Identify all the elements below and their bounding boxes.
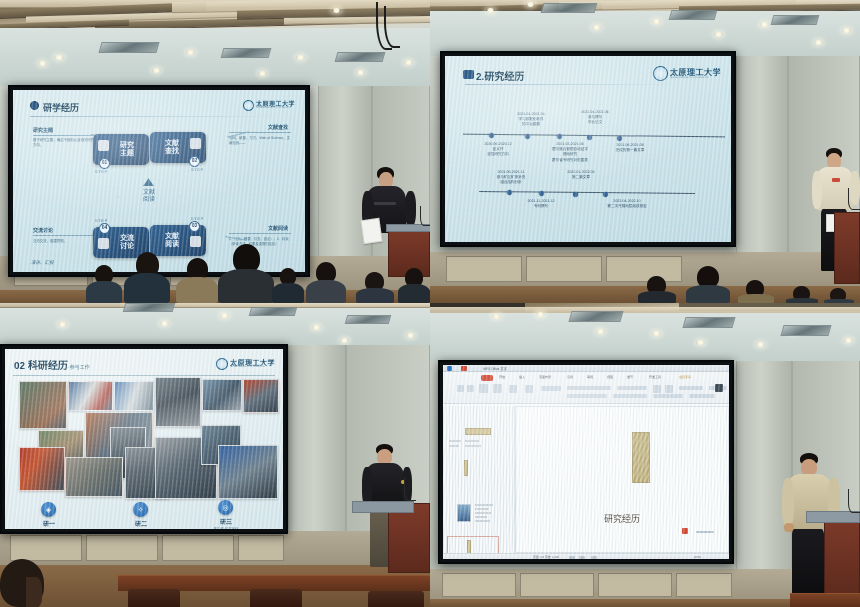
ceiling-downlight <box>404 60 413 65</box>
office-document-window: WPS Office 文字 开始 插入 页面布局 引用 审阅 视图 章节 开发工… <box>443 365 729 559</box>
slide-footer: 演讲、汇报 <box>31 260 54 266</box>
page-title-main: 02 科研经历 <box>14 361 68 372</box>
slide-research-work-collage: 02 科研经历·参与工作 太原理工大学 TAIYUAN UNIVERSITY O… <box>5 349 283 529</box>
node-label-line2: 讨论 <box>120 243 134 251</box>
audience-member <box>824 288 854 303</box>
circle-badge-icon <box>30 101 39 110</box>
target-icon: ◎ <box>222 504 228 512</box>
toolbar-icon[interactable] <box>653 394 683 398</box>
ribbon-tab[interactable]: 插入 <box>519 375 525 379</box>
page-title: 2.研究经历 <box>476 68 524 83</box>
status-icon[interactable] <box>569 556 575 559</box>
slide-research-experience-timeline: 2.研究经历 太原理工大学 TAIYUAN UNIVERSITY OF TECH… <box>445 56 731 242</box>
ceiling-downlight <box>652 19 661 24</box>
status-bar: 页面: 1/3 字数: 1,246 100% <box>443 553 729 559</box>
ceiling-downlight <box>356 70 365 75</box>
arm <box>405 191 416 227</box>
collage-photo <box>243 379 279 413</box>
node-label-line1: 文献 <box>165 140 179 148</box>
presentation-screen: WPS Office 文字 开始 插入 页面布局 引用 审阅 视图 章节 开发工… <box>438 360 734 564</box>
ceiling-vent <box>98 42 159 53</box>
badge-sub-year-1: 专业课·课程设计实验·成果 <box>11 528 87 529</box>
note-heading-literature-reading: 文献阅读 <box>268 225 288 232</box>
step-badge: 04 <box>99 223 110 234</box>
presentation-screen: 2.研究经历 太原理工大学 TAIYUAN UNIVERSITY OF TECH… <box>440 51 736 247</box>
ceiling-downlight <box>58 322 67 327</box>
podium <box>824 515 860 599</box>
dado-panel <box>676 573 732 597</box>
ribbon-tab[interactable]: 审阅 <box>587 375 593 379</box>
ceiling-downlight <box>296 55 305 60</box>
ceiling-vent <box>780 325 831 336</box>
shoulders <box>86 281 122 303</box>
audience-member <box>218 244 274 303</box>
toolbar-icon[interactable] <box>653 385 661 393</box>
toolbar-icon[interactable] <box>665 385 673 393</box>
ceiling-downlight <box>54 55 64 60</box>
note-body-discussion: 交流交流、碰撞思想。 <box>33 239 95 244</box>
ceiling-vent <box>249 307 298 316</box>
ribbon-tab[interactable]: 章节 <box>627 375 633 379</box>
flow-node-research-topic[interactable]: 研究 主题 01 <box>93 134 149 165</box>
document-figure <box>632 432 650 483</box>
book-icon <box>190 236 201 247</box>
ceiling-downlight <box>492 314 501 319</box>
ceiling-downlight <box>844 338 853 343</box>
nav-line <box>475 520 490 522</box>
title-bar: WPS Office 文字 <box>443 365 729 372</box>
timeline-text: 第二次开展地层组成测定 <box>591 204 663 209</box>
podium <box>834 212 860 284</box>
university-seal-icon <box>216 358 228 370</box>
shoulders <box>176 277 218 303</box>
page-title-sub: ·参与工作 <box>68 365 90 371</box>
timeline-dot <box>507 190 512 195</box>
step-label: STEP <box>95 169 108 174</box>
ceiling <box>0 303 430 349</box>
step-badge: 03 <box>189 221 200 232</box>
timeline-entry: 2022.01-2022.04 第二篇文章 <box>555 170 607 180</box>
audience-member <box>738 280 774 303</box>
ceiling-downlight <box>220 313 229 318</box>
timeline-text: 霍尔集合管理自动钻字 基础研究 霍尔省专研究对范围表 <box>537 147 603 163</box>
university-seal-icon <box>243 100 254 111</box>
dado-panel <box>446 256 522 282</box>
nav-thumbnail[interactable] <box>464 460 468 476</box>
shoulders <box>124 273 170 303</box>
node-label-line2: 主题 <box>120 150 134 158</box>
nav-line <box>475 516 487 518</box>
node-label-line1: 文献 <box>165 233 179 241</box>
dado-panel <box>162 535 234 561</box>
nav-line <box>475 508 489 510</box>
collage-photo <box>19 447 65 491</box>
toolbar-icon[interactable] <box>457 385 464 392</box>
photo-grid: 研学经历 太原理工大学 TAIYUAN UNIVERSITY OF TECHNO… <box>0 0 860 607</box>
shield-icon: ◈ <box>46 506 51 514</box>
dado-panel <box>520 573 594 597</box>
center-label: 文献 阅读 <box>118 190 180 204</box>
wall-column <box>736 56 788 262</box>
audience-member <box>686 266 730 303</box>
toolbar-icon[interactable] <box>509 385 517 393</box>
panel-top-right: 2.研究经历 太原理工大学 TAIYUAN UNIVERSITY OF TECH… <box>430 0 860 303</box>
ceiling-vent <box>123 303 176 312</box>
arm <box>782 478 794 528</box>
legs <box>792 529 824 599</box>
timeline-text: 定义杆 定性研究方向 <box>469 147 527 157</box>
note-body-research-topic: 基于研究主题，确定不使用以及相关研究方向。 <box>33 138 95 148</box>
ribbon-tab[interactable]: 会员专享 <box>679 375 691 379</box>
search-doc-icon <box>190 138 201 149</box>
podium <box>388 503 430 573</box>
ceiling-downlight <box>258 71 267 76</box>
gear-icon: ✧ <box>138 506 144 514</box>
microphone <box>848 188 860 210</box>
timeline-dot <box>617 136 622 141</box>
document-heading: 研究经历 <box>516 512 728 525</box>
ceiling-downlight <box>38 61 47 66</box>
university-logo: 太原理工大学 TAIYUAN UNIVERSITY OF TECHNOLOGY <box>243 100 295 111</box>
badge-sub-year-3: 现工作·论文写作 <box>194 526 258 529</box>
ribbon-tab[interactable]: 页面布局 <box>539 375 551 379</box>
timeline-entry: 2021.09-2021.11 参与矿区矿采补充 组合结构分析 <box>483 170 539 186</box>
nav-line <box>475 504 493 506</box>
logo-subtext: TAIYUAN UNIVERSITY OF TECHNOLOGY <box>670 77 721 79</box>
step-badge: 01 <box>99 158 110 169</box>
collage-photo <box>65 457 123 497</box>
podium-top <box>352 501 414 513</box>
nav-avatar <box>457 504 471 522</box>
presenter-papers <box>360 218 382 244</box>
presentation-screen: 02 科研经历·参与工作 太原理工大学 TAIYUAN UNIVERSITY O… <box>0 344 288 534</box>
arm <box>812 171 822 209</box>
navigation-pane[interactable] <box>443 406 515 553</box>
timeline-dot <box>603 192 608 197</box>
status-icon[interactable] <box>579 556 585 559</box>
microphone <box>404 477 416 501</box>
hanging-cable <box>384 6 400 48</box>
panel-bottom-left: 02 科研经历·参与工作 太原理工大学 TAIYUAN UNIVERSITY O… <box>0 303 430 607</box>
status-icon[interactable] <box>591 556 597 559</box>
audience-member <box>356 272 394 303</box>
dado-panel <box>442 573 516 597</box>
ribbon-tab[interactable]: 开始 <box>499 375 505 379</box>
timeline-text: 第二篇文章 <box>555 175 607 180</box>
timeline-entry: 2021.11-2021.12 专利撰写 <box>515 199 567 209</box>
ceiling-downlight <box>842 28 851 33</box>
badge-label-year-1: 研一 <box>33 519 65 528</box>
timeline-axis-top <box>463 134 725 138</box>
collage-photo <box>218 445 278 499</box>
toolbar-icon[interactable] <box>715 384 723 392</box>
audience-member <box>398 268 430 303</box>
timeline-dot <box>557 134 562 139</box>
toolbar-icon[interactable] <box>567 386 611 390</box>
ceiling-vent <box>682 317 735 328</box>
chair <box>250 589 302 607</box>
ribbon-tab[interactable]: 引用 <box>567 375 573 379</box>
timeline-entry: 2022.04-2022.10 第二次开展地层组成测定 <box>591 199 663 209</box>
center-label-line2: 阅读 <box>118 197 180 204</box>
collage-photo <box>155 377 201 427</box>
timeline-text: 参与矿区矿采补充 组合结构分析 <box>483 175 539 185</box>
toolbar-icon[interactable] <box>479 384 488 393</box>
ceiling-downlight <box>536 312 545 317</box>
ribbon: 开始 插入 页面布局 引用 审阅 视图 章节 开发工具 会员专享 <box>443 372 729 404</box>
timeline-text: 参与撰写 毕业论文 <box>567 115 623 125</box>
badge-label-year-3: 研三 <box>210 517 242 526</box>
timeline-entry: 2021.04-2021.06 参与撰写 毕业论文 <box>567 110 623 126</box>
audience-member <box>86 265 122 303</box>
shoulders <box>272 283 304 303</box>
toolbar-icon[interactable] <box>613 394 647 398</box>
square-badge-icon <box>463 70 474 79</box>
badge-year-2: ✧ <box>133 502 148 517</box>
ceiling-vent <box>771 15 820 25</box>
collage-photo <box>114 381 154 411</box>
audience-member <box>638 276 676 303</box>
app-title: WPS Office 文字 <box>483 366 507 371</box>
shoulders <box>398 284 430 303</box>
badge-label-year-2: 研二 <box>125 519 157 528</box>
dado-panel <box>86 535 158 561</box>
badge-year-3: ◎ <box>218 500 233 515</box>
note-heading-discussion: 交流讨论 <box>33 227 53 234</box>
audience-member <box>272 268 304 303</box>
nav-line <box>465 445 481 447</box>
timeline-entry: 2021.01-2021.04 学习参数化软件 的平台建模 <box>503 112 559 128</box>
chart-icon <box>98 140 109 151</box>
dado-panel <box>598 573 672 597</box>
toolbar-icon[interactable] <box>617 386 647 390</box>
university-logo: 太原理工大学 TAIYUAN UNIVERSITY OF TECHNOLOGY <box>216 358 275 370</box>
doc-footer-icon <box>696 531 714 533</box>
nav-line <box>449 440 461 442</box>
dado-panel <box>238 535 284 561</box>
node-label-line1: 交流 <box>120 235 134 243</box>
node-label-line2: 查找 <box>165 148 179 156</box>
ceiling-downlight <box>652 331 661 336</box>
step-label: STEP <box>95 218 108 223</box>
dado-panel <box>10 535 82 561</box>
chair <box>368 591 424 607</box>
microphone <box>420 206 430 226</box>
ceiling <box>0 0 430 86</box>
chair <box>128 589 180 607</box>
node-label-line1: 研究 <box>120 142 134 150</box>
nav-line <box>465 440 479 442</box>
timeline-dot <box>587 135 592 140</box>
timeline-text: 完成的第一篇文章 <box>599 148 661 153</box>
toolbar-icon[interactable] <box>525 385 533 393</box>
zoom-level[interactable]: 100% <box>694 555 701 559</box>
collage-photo <box>68 381 113 411</box>
person-speak-icon <box>98 238 109 249</box>
status-text: 页面: 1/3 字数: 1,246 <box>533 555 559 559</box>
note-body-literature-search: 知网、维普、万方、Web of Science、文献检索—— <box>229 136 291 146</box>
logo-subtext: TAIYUAN UNIVERSITY OF TECHNOLOGY <box>256 108 295 110</box>
audience-member-foreground <box>0 559 52 607</box>
step-label: STEP <box>191 167 204 172</box>
page-title: 02 科研经历·参与工作 <box>14 357 90 372</box>
nav-thumbnail[interactable] <box>465 428 491 435</box>
audience-member <box>176 258 218 303</box>
shoulders <box>738 294 774 303</box>
step-badge: 02 <box>189 156 200 167</box>
panel-bottom-right: WPS Office 文字 开始 插入 页面布局 引用 审阅 视图 章节 开发工… <box>430 303 860 607</box>
university-seal-icon <box>653 66 668 81</box>
ceiling-downlight <box>814 40 823 45</box>
note-heading-research-topic: 研究主题 <box>33 127 53 134</box>
audience-member <box>124 252 170 303</box>
toolbar-icon[interactable] <box>467 385 474 392</box>
ribbon-tab[interactable]: 开发工具 <box>649 375 661 379</box>
badge-year-1: ◈ <box>41 502 56 517</box>
document-pane[interactable]: 研究经历 <box>515 406 729 553</box>
panel-top-left: 研学经历 太原理工大学 TAIYUAN UNIVERSITY OF TECHNO… <box>0 0 430 303</box>
ceiling-downlight <box>186 50 195 55</box>
ceiling <box>430 303 860 365</box>
nav-line <box>475 512 491 514</box>
ceiling-downlight <box>696 340 705 345</box>
microphone <box>848 489 860 513</box>
note-heading-literature-search: 文献查找 <box>268 124 288 131</box>
shoulders <box>356 288 394 303</box>
logo-text: 太原理工大学 <box>670 69 721 77</box>
flow-node-literature-search[interactable]: 文献 查找 02 <box>150 132 206 163</box>
ceiling-downlight <box>486 8 495 13</box>
desk-row <box>790 593 860 607</box>
node-label-line2: 阅读 <box>165 241 179 249</box>
ceiling-vent <box>541 3 598 13</box>
ceiling-vent <box>335 52 386 62</box>
page-title: 研学经历 <box>43 101 79 114</box>
ceiling-downlight <box>406 333 415 338</box>
ceiling-downlight <box>312 325 321 330</box>
ceiling-vent <box>345 315 392 324</box>
ribbon-tab[interactable]: 视图 <box>607 375 613 379</box>
timeline-entry: 2021.06-2021.08 完成的第一篇文章 <box>599 143 661 153</box>
timeline-dot <box>539 191 544 196</box>
logo-subtext: TAIYUAN UNIVERSITY OF TECHNOLOGY <box>230 367 275 369</box>
shoulders <box>306 280 346 303</box>
shoulders <box>218 269 274 303</box>
ceiling-downlight <box>760 22 769 27</box>
toolbar-icon[interactable] <box>541 386 561 391</box>
timeline-dot <box>525 134 530 139</box>
ceiling-downlight <box>592 25 601 30</box>
ceiling-downlight <box>714 32 723 37</box>
ceiling-vent <box>221 48 272 58</box>
timeline-entry: 2021.03-2021.06 霍尔集合管理自动钻字 基础研究 霍尔省专研究对范… <box>537 142 603 163</box>
ceiling-downlight <box>596 329 605 334</box>
wall-column <box>288 345 346 541</box>
ceiling-downlight <box>332 8 341 13</box>
audience-member <box>306 262 346 303</box>
timeline-text: 专利撰写 <box>515 204 567 209</box>
timeline-dot <box>573 192 578 197</box>
ceiling-downlight <box>526 2 535 7</box>
university-logo: 太原理工大学 TAIYUAN UNIVERSITY OF TECHNOLOGY <box>653 66 721 81</box>
dado-panel <box>526 256 602 282</box>
ceiling-vent <box>568 311 623 322</box>
center-label-line1: 文献 <box>118 190 180 197</box>
step-label: STEP <box>191 216 204 221</box>
toolbar-icon[interactable] <box>689 394 715 398</box>
timeline-dot <box>489 133 494 138</box>
toolbar-icon[interactable] <box>493 384 502 393</box>
nav-line <box>449 445 459 447</box>
ceiling-downlight <box>756 342 765 347</box>
timeline-text: 学习参数化软件 的平台建模 <box>503 117 559 127</box>
wps-watermark-icon <box>682 528 688 534</box>
badge-sub-year-2: 现场试验数据·试验 <box>107 528 175 529</box>
shoulders <box>686 285 730 303</box>
shoulders <box>638 291 676 303</box>
toolbar-icon[interactable] <box>679 386 703 390</box>
ceiling-downlight <box>340 338 349 343</box>
audience-member <box>786 286 818 303</box>
timeline-entry: 2020.09-2020.12 定义杆 定性研究方向 <box>469 142 527 158</box>
ceiling-downlight <box>152 68 161 73</box>
collage-photo <box>202 379 242 411</box>
ceiling-downlight <box>160 321 169 326</box>
toolbar-icon[interactable] <box>567 394 607 398</box>
collage-photo <box>19 381 67 429</box>
ceiling-vent <box>669 10 718 20</box>
